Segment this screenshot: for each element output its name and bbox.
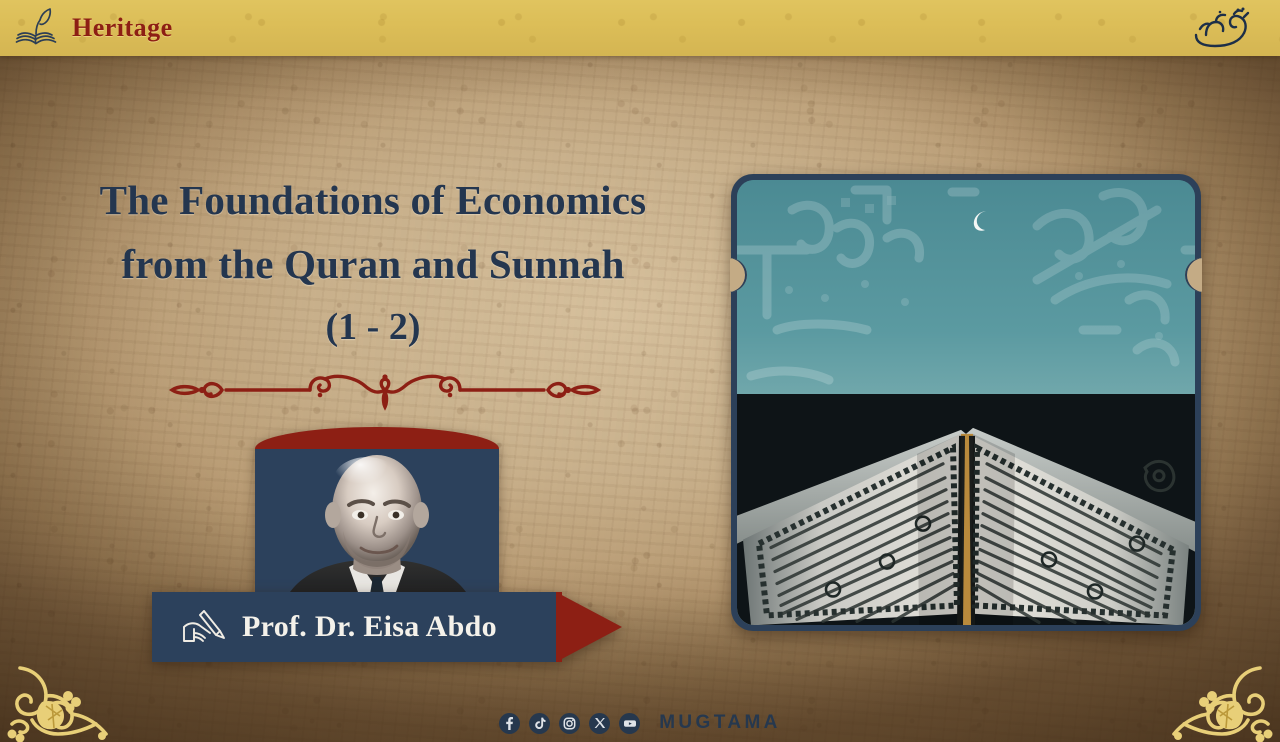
quran-image-frame — [731, 174, 1201, 631]
hand-writing-pen-icon — [178, 607, 226, 647]
instagram-icon[interactable] — [559, 713, 580, 734]
banner-arrow-point — [556, 592, 622, 662]
tiktok-icon[interactable] — [529, 713, 550, 734]
open-quran-book — [737, 394, 1195, 625]
title-line-1: The Foundations of Economics — [28, 168, 718, 232]
youtube-icon[interactable] — [619, 713, 640, 734]
speaker-portrait-card — [255, 427, 499, 617]
quran-image — [737, 180, 1195, 625]
ornamental-flourish-divider — [160, 368, 610, 412]
title-part-number: (1 - 2) — [28, 296, 718, 358]
facebook-icon[interactable] — [499, 713, 520, 734]
title-line-2: from the Quran and Sunnah — [28, 232, 718, 296]
header-category-label: Heritage — [72, 13, 173, 43]
mugtama-arabic-logo — [1178, 5, 1266, 51]
speaker-name-label: Prof. Dr. Eisa Abdo — [242, 610, 497, 644]
speaker-name-banner: Prof. Dr. Eisa Abdo — [152, 592, 622, 662]
header-texture — [0, 0, 1280, 56]
header-brand-group: Heritage — [0, 7, 173, 49]
slide-root: Heritage The Foundations of Economics fr… — [0, 0, 1280, 742]
footer-brand-label: MUGTAMA — [659, 712, 781, 734]
quill-on-open-book-icon — [14, 7, 58, 49]
crescent-moon-icon — [969, 208, 993, 232]
title-block: The Foundations of Economics from the Qu… — [28, 168, 718, 358]
banner-body: Prof. Dr. Eisa Abdo — [152, 592, 556, 662]
footer-social-bar: MUGTAMA — [0, 712, 1280, 734]
x-twitter-icon[interactable] — [589, 713, 610, 734]
header-bar: Heritage — [0, 0, 1280, 56]
